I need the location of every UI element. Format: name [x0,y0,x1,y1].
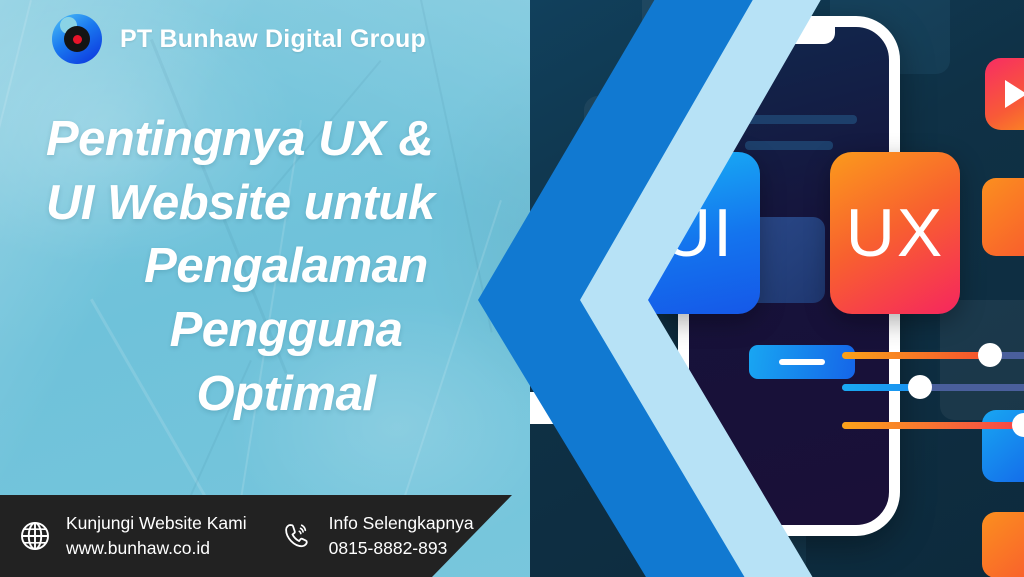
website-text: Kunjungi Website Kami www.bunhaw.co.id [66,511,247,561]
headline-line-4: Pengguna [46,299,526,363]
logo-center-dot [73,35,82,44]
website-label: Kunjungi Website Kami [66,513,247,533]
phone-contact-group[interactable]: Info Selengkapnya 0815-8882-893 [281,511,474,561]
headline-line-1: Pentingnya UX & [46,108,526,172]
globe-icon [18,519,52,553]
headline-line-2: UI Website untuk [46,172,526,236]
phone-text: Info Selengkapnya 0815-8882-893 [329,511,474,561]
headline: Pentingnya UX & UI Website untuk Pengala… [46,108,526,426]
website-contact-group[interactable]: Kunjungi Website Kami www.bunhaw.co.id [18,511,247,561]
logo-inner-circle [64,26,90,52]
brand-header: PT Bunhaw Digital Group [52,14,426,64]
bunhaw-b-circle-logo [52,14,102,64]
headline-line-3: Pengalaman [46,235,526,299]
phone-label: Info Selengkapnya [329,513,474,533]
headline-line-5: Optimal [46,363,526,427]
phone-ringing-icon [281,519,315,553]
brand-name: PT Bunhaw Digital Group [120,25,426,54]
poster-canvas: UI UX [0,0,1024,577]
website-url: www.bunhaw.co.id [66,536,247,561]
